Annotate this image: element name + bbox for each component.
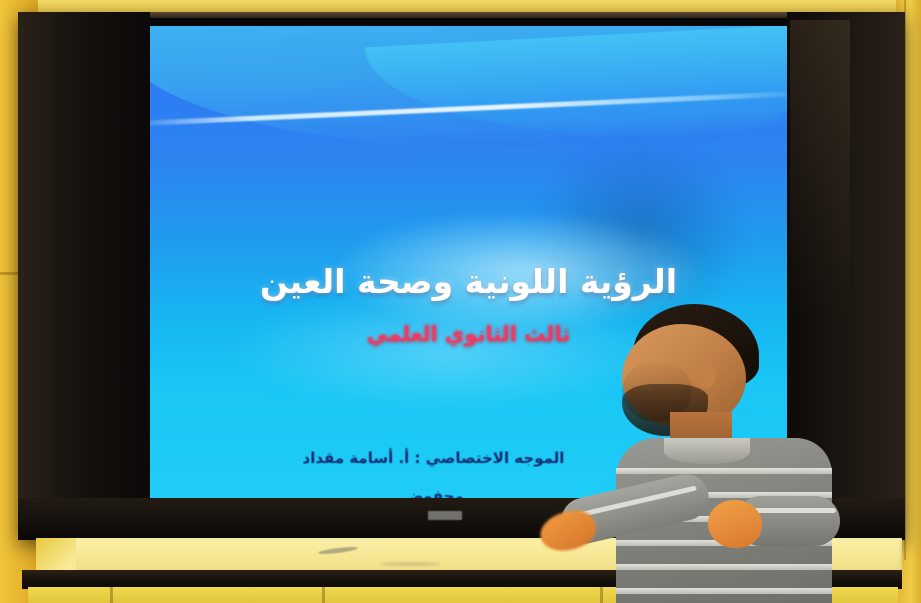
tv-brand-logo-icon xyxy=(428,511,462,520)
sweater-stripe xyxy=(616,564,832,570)
sleeve-stripe xyxy=(746,508,836,513)
cabinet-divider xyxy=(322,587,325,603)
slide-title: الرؤية اللونية وصحة العين xyxy=(150,262,787,301)
tv-bezel-sheen xyxy=(790,20,850,320)
desk-smudge xyxy=(380,562,440,566)
tv-bezel-left xyxy=(18,12,150,498)
sweater-stripe xyxy=(616,468,832,474)
person-right-hand xyxy=(708,500,762,548)
cabinet-divider xyxy=(110,587,113,603)
teacher-presenter xyxy=(560,300,860,603)
person-ear xyxy=(696,362,716,388)
lecture-video-frame: الرؤية اللونية وصحة العين ثالث الثانوي ا… xyxy=(0,0,921,603)
desk-surface-left-corner xyxy=(36,538,76,574)
sweater-stripe xyxy=(616,588,832,594)
person-collar xyxy=(664,438,750,464)
